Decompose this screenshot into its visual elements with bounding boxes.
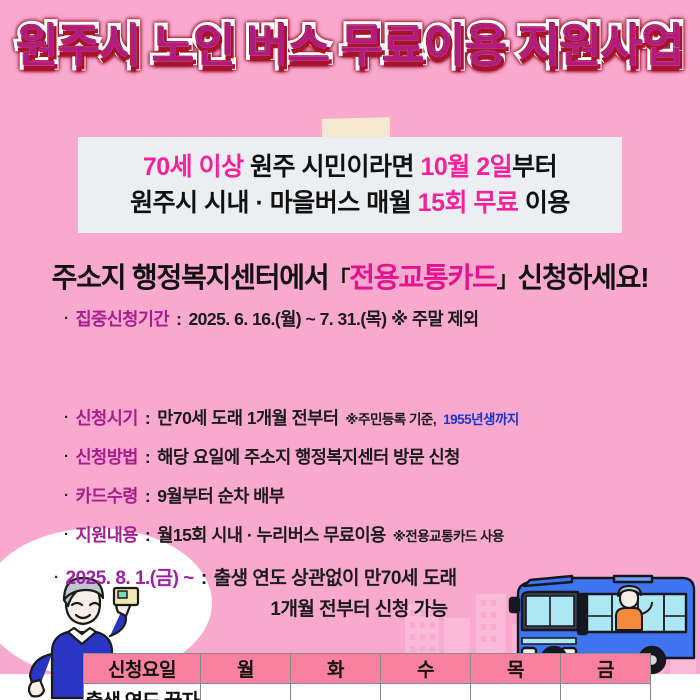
info-line-2: 원주시 시내 · 마을버스 매월 15회 무료 이용: [130, 185, 570, 221]
final-bullet-line2: 1개월 전부터 신청 가능: [0, 594, 700, 621]
bullet-dot-icon: ·: [64, 311, 69, 326]
list-item: · 신청방법 : 해당 요일에 주소지 행정복지센터 방문 신청: [0, 444, 700, 469]
final-bullet-label: 2025. 8. 1.(금) ~: [66, 563, 194, 590]
info-line-1: 70세 이상 원주 시민이라면 10월 2일부터: [143, 149, 557, 185]
bullet-dot-icon: ·: [64, 488, 69, 503]
bullet-dot-icon: ·: [64, 449, 69, 464]
table-cell: 1, 6: [201, 684, 291, 700]
info-line2-prefix: 원주시 시내 · 마을버스 매월: [130, 189, 418, 217]
table-header-cell: 화: [291, 654, 381, 684]
final-bullet-value: 출생 연도 상관없이 만70세 도래: [214, 563, 457, 590]
headline-part2: 신청하세요!: [517, 262, 648, 293]
bullet-separator: :: [145, 486, 150, 507]
table-header-row: 신청요일 월 화 수 목 금: [84, 654, 651, 684]
bullet-label: 신청시기: [76, 405, 138, 430]
poster-title-area: 원주시 노인 버스 무료이용 지원사업: [0, 22, 700, 70]
info-line2-suffix: 이용: [518, 189, 569, 217]
headline: 주소지 행정복지센터에서「전용교통카드」신청하세요!: [0, 256, 700, 296]
bullet-label: 지원내용: [76, 522, 138, 547]
bullet-separator: :: [145, 447, 150, 468]
table-header-cell: 월: [201, 654, 291, 684]
list-item: · 카드수령 : 9월부터 순차 배부: [0, 483, 700, 508]
bullet-dot-icon: ·: [64, 410, 69, 425]
table-header-cell: 목: [471, 654, 561, 684]
info-age-highlight: 70세 이상: [143, 153, 244, 181]
table-row-label: 출생 연도 끝자리: [84, 684, 201, 700]
bullet-note: ※주민등록 기준,: [345, 408, 436, 428]
list-item-final: · 2025. 8. 1.(금) ~ : 출생 연도 상관없이 만70세 도래: [0, 563, 700, 590]
table-header-cell: 금: [561, 654, 651, 684]
info-callout-box: 70세 이상 원주 시민이라면 10월 2일부터 원주시 시내 · 마을버스 매…: [78, 137, 622, 233]
page-title: 원주시 노인 버스 무료이용 지원사업: [17, 22, 684, 70]
bracket-open: 「: [328, 267, 349, 292]
bullet-value: 만70세 도래 1개월 전부터: [157, 405, 338, 430]
info-free-highlight: 15회 무료: [418, 189, 519, 217]
poster-canvas: 원주시 노인 버스 무료이용 지원사업 70세 이상 원주 시민이라면 10월 …: [0, 0, 700, 700]
table-cell: 4, 9: [471, 684, 561, 700]
table-cell: 5, 0: [561, 684, 651, 700]
headline-part1: 주소지 행정복지센터에서: [52, 262, 329, 293]
bullet-dot-icon: ·: [64, 527, 69, 542]
bullet-value: 해당 요일에 주소지 행정복지센터 방문 신청: [157, 444, 460, 469]
bullet-label: 신청방법: [76, 444, 138, 469]
bullet-value: 2025. 6. 16.(월) ~ 7. 31.(목) ※ 주말 제외: [188, 306, 478, 331]
bullet-label: 집중신청기간: [76, 306, 170, 331]
table-cell: 2, 7: [291, 684, 381, 700]
bullet-label: 카드수령: [76, 483, 138, 508]
list-item: · 집중신청기간 : 2025. 6. 16.(월) ~ 7. 31.(목) ※…: [0, 306, 700, 331]
bullet-list: · 집중신청기간 : 2025. 6. 16.(월) ~ 7. 31.(목) ※…: [0, 306, 700, 621]
bullet-note-highlight: 1955년생까지: [443, 408, 519, 428]
table-header-cell: 수: [381, 654, 471, 684]
application-day-table-wrap: 신청요일 월 화 수 목 금 출생 연도 끝자리 1, 6 2, 7 3, 8 …: [83, 653, 651, 700]
bullet-note: ※전용교통카드 사용: [393, 525, 504, 545]
info-line1-suffix: 부터: [512, 153, 557, 181]
info-line1-text: 원주 시민이라면: [244, 153, 421, 181]
bullet-separator: :: [176, 309, 181, 330]
info-date-highlight: 10월 2일: [420, 153, 512, 181]
final-bullet-separator: :: [201, 568, 207, 590]
bullet-dot-icon: ·: [54, 570, 59, 585]
bullet-separator: :: [145, 525, 150, 546]
bullet-separator: :: [145, 408, 150, 429]
headline-highlight: 전용교통카드: [349, 262, 496, 293]
bullet-value: 9월부터 순차 배부: [157, 483, 284, 508]
bracket-close: 」: [497, 267, 518, 292]
application-day-table: 신청요일 월 화 수 목 금 출생 연도 끝자리 1, 6 2, 7 3, 8 …: [83, 653, 651, 700]
list-item: · 지원내용 : 월15회 시내 · 누리버스 무료이용 ※전용교통카드 사용: [0, 522, 700, 547]
table-cell: 3, 8: [381, 684, 471, 700]
table-row: 출생 연도 끝자리 1, 6 2, 7 3, 8 4, 9 5, 0: [84, 684, 651, 700]
bullet-value: 월15회 시내 · 누리버스 무료이용: [157, 522, 385, 547]
table-header-cell: 신청요일: [84, 654, 201, 684]
list-item: · 신청시기 : 만70세 도래 1개월 전부터 ※주민등록 기준, 1955년…: [0, 405, 700, 430]
